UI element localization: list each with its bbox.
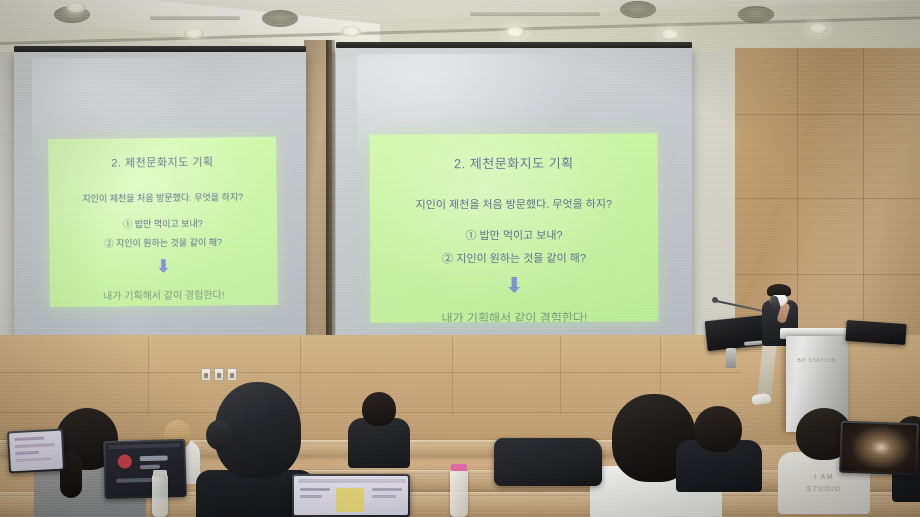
- audience-laptop[interactable]: [7, 429, 65, 474]
- slide-option-1: ① 밥만 먹이고 보내?: [123, 217, 203, 231]
- laptop-screen: [9, 431, 63, 472]
- boom-tip-icon: [712, 297, 718, 303]
- bottle-cap: [451, 464, 467, 471]
- downlight-icon: [505, 27, 525, 38]
- slide-conclusion: 내가 기획해서 같이 경험한다!: [103, 286, 225, 302]
- lower-wood-wall: [0, 335, 920, 445]
- slide-option-2: ② 지인이 원하는 것을 같이 해?: [104, 235, 222, 249]
- podium-monitor-right: [845, 320, 906, 345]
- projected-slide-left: 2. 제천문화지도 기획 지인이 제천을 처음 방문했다. 무엇을 하지? ① …: [48, 137, 278, 307]
- slide-title: 2. 제천문화지도 기획: [111, 153, 213, 170]
- bottle-cap: [153, 470, 167, 476]
- downlight-icon: [66, 2, 86, 13]
- laptop-screen: [841, 423, 917, 474]
- ceiling-speaker-icon: [262, 10, 298, 27]
- audience-laptop[interactable]: [292, 474, 410, 517]
- ceiling-vent-strip: [150, 16, 240, 20]
- wall-outlet-icon: [201, 368, 211, 381]
- down-arrow-icon: ⬇: [506, 276, 523, 296]
- wall-port-icon: [227, 368, 237, 381]
- podium-brand-label: BP STATION: [798, 358, 837, 364]
- projected-slide-right: 2. 제천문화지도 기획 지인이 제천을 처음 방문했다. 무엇을 하지? ① …: [370, 133, 659, 322]
- backpack: [494, 438, 602, 486]
- screen-top-housing: [336, 42, 692, 48]
- downlight-icon: [808, 23, 828, 34]
- downlight-icon: [660, 29, 680, 40]
- water-bottle: [450, 470, 468, 517]
- laptop-screen: [294, 476, 408, 515]
- pillar-shadow: [326, 40, 335, 358]
- ceiling-speaker-icon: [738, 6, 774, 23]
- slide-option-2: ② 지인이 원하는 것을 같이 해?: [442, 250, 586, 267]
- lecture-hall-photo: 2. 제천문화지도 기획 지인이 제천을 처음 방문했다. 무엇을 하지? ① …: [0, 0, 920, 517]
- slide-conclusion: 내가 기획해서 같이 경험한다!: [441, 309, 587, 323]
- down-arrow-icon: ⬇: [156, 258, 170, 275]
- wall-outlet-icon: [214, 368, 224, 381]
- ceiling-speaker-icon: [620, 1, 656, 18]
- slide-option-1: ① 밥만 먹이고 보내?: [465, 227, 562, 243]
- monitor-pole: [726, 348, 736, 368]
- audience-laptop[interactable]: [839, 421, 919, 476]
- slide-question: 지인이 제천을 처음 방문했다. 무엇을 하지?: [416, 196, 613, 213]
- audience-laptop[interactable]: [103, 439, 186, 499]
- shirt-text-line1: I AM: [778, 474, 870, 481]
- screen-top-housing: [14, 46, 306, 52]
- ceiling-vent-strip: [470, 12, 600, 16]
- slide-title: 2. 제천문화지도 기획: [454, 153, 574, 173]
- water-bottle: [152, 474, 168, 517]
- downlight-icon: [184, 28, 204, 39]
- shirt-text-line2: STUDIO: [778, 486, 870, 493]
- laptop-screen: [105, 441, 184, 497]
- downlight-icon: [341, 26, 361, 37]
- slide-question: 지인이 제천을 처음 방문했다. 무엇을 하지?: [82, 190, 243, 205]
